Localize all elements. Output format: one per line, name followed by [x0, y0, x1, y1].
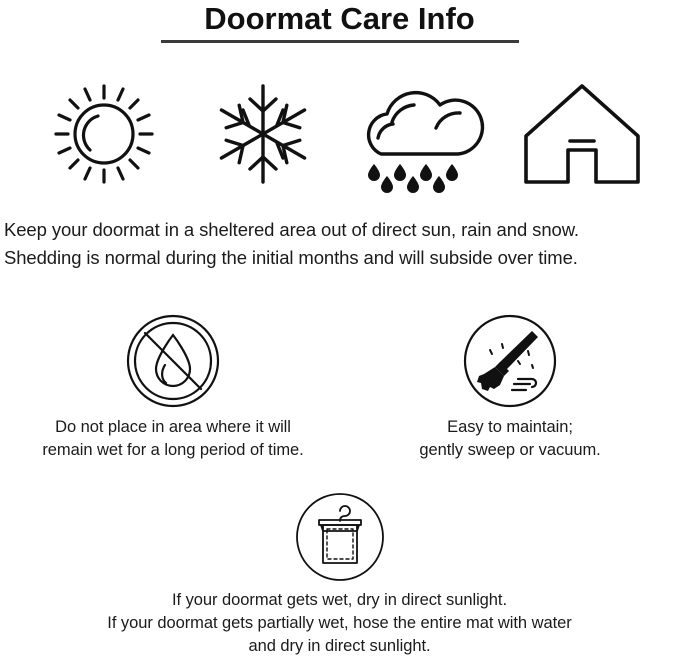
page-header: Doormat Care Info	[0, 0, 679, 43]
caption-line-1: If your doormat gets wet, dry in direct …	[0, 589, 679, 612]
no-water-icon	[3, 310, 343, 412]
badge-easy-maintain-caption: Easy to maintain; gently sweep or vacuum…	[340, 416, 679, 462]
lead-line-2: Shedding is normal during the initial mo…	[4, 244, 679, 272]
badge-no-water-caption: Do not place in area where it will remai…	[3, 416, 343, 462]
sun-icon	[32, 72, 182, 196]
care-badge-row: Do not place in area where it will remai…	[0, 310, 679, 460]
caption-line-2: If your doormat gets partially wet, hose…	[0, 612, 679, 635]
rain-cloud-icon	[348, 72, 498, 196]
lead-line-1: Keep your doormat in a sheltered area ou…	[4, 216, 679, 244]
badge-no-water: Do not place in area where it will remai…	[3, 310, 343, 462]
broom-icon	[340, 310, 679, 412]
drying-instructions-block: If your doormat gets wet, dry in direct …	[0, 488, 679, 658]
drying-instructions-caption: If your doormat gets wet, dry in direct …	[0, 589, 679, 658]
title-underline-rule	[161, 40, 519, 43]
caption-line-2: gently sweep or vacuum.	[340, 439, 679, 462]
caption-line-2: remain wet for a long period of time.	[3, 439, 343, 462]
house-icon	[508, 72, 658, 196]
lead-paragraph: Keep your doormat in a sheltered area ou…	[0, 216, 679, 272]
page-title: Doormat Care Info	[0, 0, 679, 36]
hang-dry-icon	[0, 488, 679, 586]
caption-line-1: Easy to maintain;	[340, 416, 679, 439]
badge-easy-maintain: Easy to maintain; gently sweep or vacuum…	[340, 310, 679, 462]
caption-line-1: Do not place in area where it will	[3, 416, 343, 439]
weather-icon-row	[0, 72, 679, 196]
snowflake-icon	[188, 72, 338, 196]
